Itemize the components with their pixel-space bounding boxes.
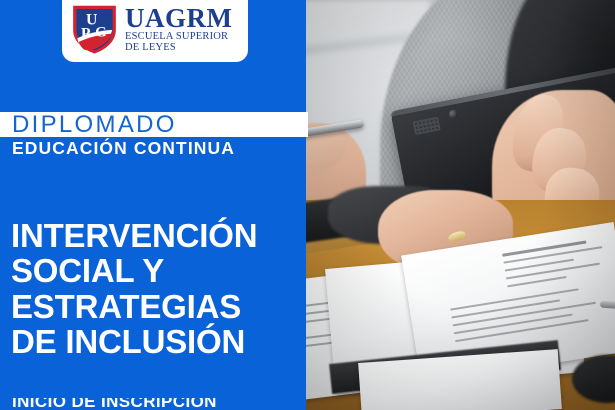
institution-name: UAGRM (125, 6, 232, 31)
logo-text-block: UAGRM ESCUELA SUPERIOR DE LEYES (125, 6, 232, 55)
logo-card: U P G UAGRM ESCUELA SUPERIOR DE LEYES (62, 0, 248, 62)
subkicker-text: EDUCACIÓN CONTINUA (12, 140, 235, 158)
kicker-text: DIPLOMADO (12, 112, 308, 137)
poster-banner: U P G UAGRM ESCUELA SUPERIOR DE LEYES DI… (0, 0, 615, 410)
headline-line-3: ESTRATEGIAS (11, 289, 307, 324)
headline-line-2: SOCIAL Y (11, 253, 307, 288)
tablet-speaker-grille (413, 117, 441, 136)
shield-crest-icon: U P G (71, 3, 118, 55)
footer-cropped-line: INICIO DE INSCRIPCIÓN (12, 398, 302, 410)
faculty-line-1: ESCUELA SUPERIOR (125, 31, 232, 43)
headline-block: INTERVENCIÓN SOCIAL Y ESTRATEGIAS DE INC… (11, 218, 307, 359)
headline-line-4: DE INCLUSIÓN (11, 324, 307, 359)
svg-text:P: P (81, 25, 91, 42)
headline-line-1: INTERVENCIÓN (11, 218, 307, 253)
svg-text:G: G (95, 24, 107, 40)
tablet-camera-icon (448, 109, 459, 120)
footer-text: INICIO DE INSCRIPCIÓN (12, 398, 302, 410)
faculty-line-2: DE LEYES (125, 42, 232, 54)
photo-region (300, 0, 615, 410)
